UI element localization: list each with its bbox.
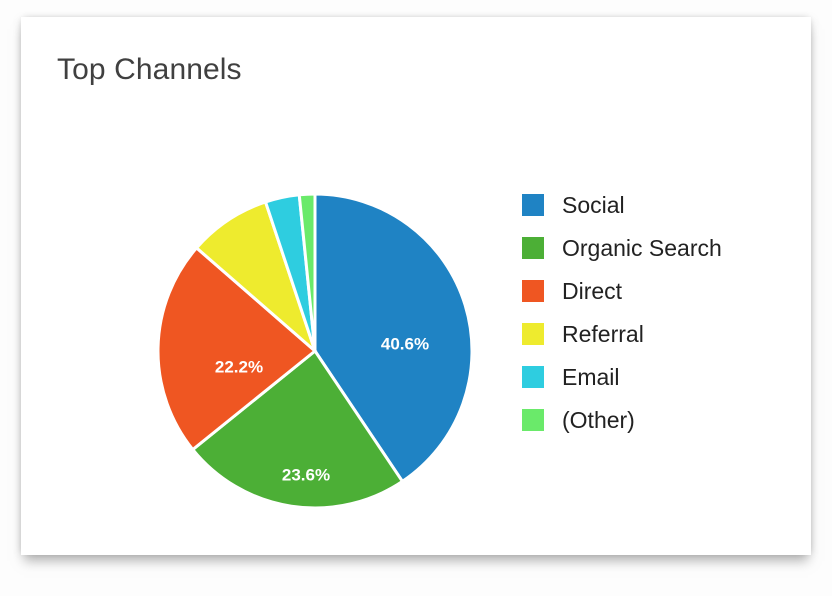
legend-color-swatch xyxy=(522,323,544,345)
legend-item-label: (Other) xyxy=(562,407,635,433)
legend-color-swatch xyxy=(522,366,544,388)
legend-item[interactable]: Social xyxy=(522,183,782,226)
page-title: Top Channels xyxy=(57,53,242,87)
chart-legend: SocialOrganic SearchDirectReferralEmail(… xyxy=(522,183,782,441)
legend-color-swatch xyxy=(522,409,544,431)
legend-item[interactable]: Email xyxy=(522,355,782,398)
legend-item[interactable]: Direct xyxy=(522,269,782,312)
legend-item-label: Social xyxy=(562,192,625,218)
legend-item-label: Organic Search xyxy=(562,235,722,261)
legend-item-label: Direct xyxy=(562,278,622,304)
legend-color-swatch xyxy=(522,194,544,216)
legend-item-label: Referral xyxy=(562,321,644,347)
legend-item[interactable]: Organic Search xyxy=(522,226,782,269)
pie-chart[interactable]: 40.6%23.6%22.2% xyxy=(155,191,475,511)
top-channels-card: Top Channels 40.6%23.6%22.2% SocialOrgan… xyxy=(21,17,811,555)
legend-item[interactable]: Referral xyxy=(522,312,782,355)
screenshot-root: Top Channels 40.6%23.6%22.2% SocialOrgan… xyxy=(0,0,832,596)
legend-item-label: Email xyxy=(562,364,620,390)
pie-slice-label: 40.6% xyxy=(381,335,429,354)
pie-chart-svg[interactable]: 40.6%23.6%22.2% xyxy=(155,191,475,511)
legend-item[interactable]: (Other) xyxy=(522,398,782,441)
legend-color-swatch xyxy=(522,237,544,259)
pie-slice-label: 22.2% xyxy=(215,358,263,377)
pie-slice-label: 23.6% xyxy=(282,466,330,485)
legend-color-swatch xyxy=(522,280,544,302)
